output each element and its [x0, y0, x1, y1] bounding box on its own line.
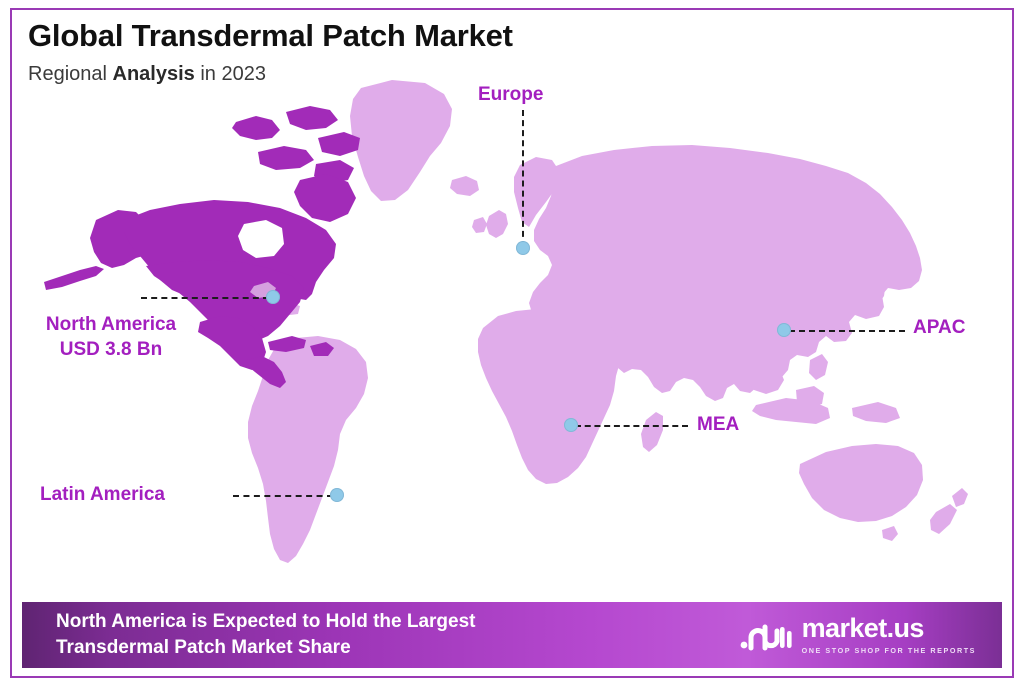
- footer-banner-line-2: Transdermal Patch Market Share: [56, 635, 476, 661]
- infographic-root: Global Transdermal Patch Market Regional…: [0, 0, 1024, 684]
- leader-line-mea: [575, 425, 688, 427]
- market-us-logo-tagline: ONE STOP SHOP FOR THE REPORTS: [802, 646, 976, 655]
- leader-line-europe: [522, 110, 524, 247]
- map-marker-latin-america[interactable]: [330, 488, 344, 502]
- page-title: Global Transdermal Patch Market: [28, 18, 513, 54]
- aleutians-shape: [44, 266, 104, 290]
- region-label-latin-america: Latin America: [40, 484, 165, 506]
- region-label-europe-name: Europe: [478, 84, 543, 106]
- arctic-island-3-shape: [258, 146, 314, 170]
- footer-banner: North America is Expected to Hold the La…: [22, 602, 1002, 668]
- madagascar-shape: [641, 412, 663, 452]
- footer-banner-text: North America is Expected to Hold the La…: [56, 609, 476, 660]
- australia-shape: [799, 444, 923, 522]
- philippines-shape: [809, 354, 828, 380]
- region-label-mea: MEA: [697, 414, 739, 436]
- subtitle-emphasis: Analysis: [113, 63, 195, 85]
- map-marker-europe[interactable]: [516, 241, 530, 255]
- region-label-north-america: North America USD 3.8 Bn: [16, 312, 206, 362]
- ireland-shape: [472, 217, 487, 233]
- market-us-logo-words: market.us ONE STOP SHOP FOR THE REPORTS: [802, 615, 976, 655]
- greenland-shape: [350, 80, 452, 201]
- region-label-north-america-name: North America: [16, 312, 206, 337]
- map-marker-mea[interactable]: [564, 418, 578, 432]
- page-subtitle: Regional Analysis in 2023: [28, 63, 513, 86]
- map-region-base: [200, 80, 1000, 600]
- arctic-archipelago-shape: [232, 116, 280, 140]
- region-label-apac-name: APAC: [913, 317, 965, 339]
- region-label-europe: Europe: [478, 84, 543, 106]
- market-us-logo-name: market.us: [802, 615, 976, 642]
- region-label-mea-name: MEA: [697, 414, 739, 436]
- new-zealand-shape: [952, 488, 968, 507]
- baffin-island-shape: [294, 174, 356, 222]
- header: Global Transdermal Patch Market Regional…: [28, 18, 513, 86]
- tasmania-shape: [882, 526, 898, 541]
- leader-line-apac: [789, 330, 905, 332]
- subtitle-post: in 2023: [195, 63, 266, 85]
- leader-line-latin-america: [233, 495, 333, 497]
- arctic-island-2-shape: [286, 106, 338, 130]
- footer-banner-line-1: North America is Expected to Hold the La…: [56, 609, 476, 635]
- market-us-logo[interactable]: market.us ONE STOP SHOP FOR THE REPORTS: [740, 615, 976, 655]
- iceland-shape: [450, 176, 479, 196]
- region-label-apac: APAC: [913, 317, 965, 339]
- region-label-latin-america-name: Latin America: [40, 484, 165, 506]
- new-zealand-south-shape: [930, 504, 957, 534]
- region-label-north-america-value: USD 3.8 Bn: [16, 337, 206, 362]
- market-us-logo-icon: [740, 617, 792, 653]
- leader-line-north-america: [141, 297, 269, 299]
- subtitle-pre: Regional: [28, 63, 113, 85]
- british-isles-shape: [486, 210, 508, 238]
- map-marker-apac[interactable]: [777, 323, 791, 337]
- map-marker-north-america[interactable]: [266, 290, 280, 304]
- africa-shape: [478, 309, 640, 484]
- new-guinea-shape: [852, 402, 900, 423]
